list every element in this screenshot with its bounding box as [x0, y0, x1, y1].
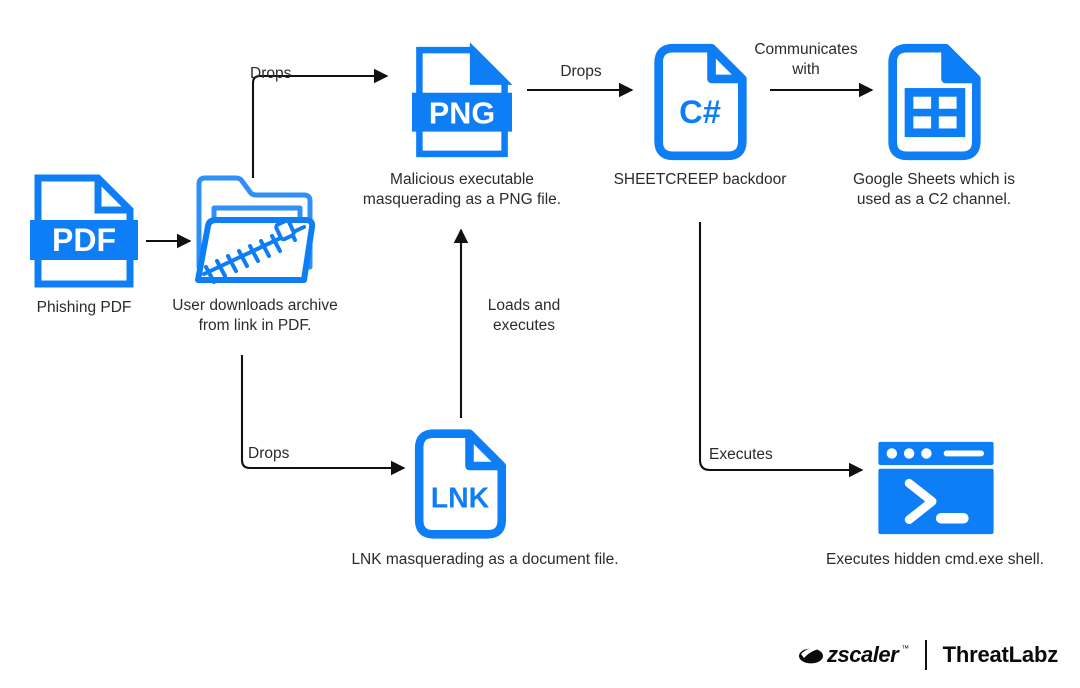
zscaler-logo: zscaler ™ [798, 642, 909, 668]
trademark-symbol: ™ [901, 644, 909, 653]
terminal-titlebar-line [944, 451, 984, 457]
edge-label-archive-to-png: Drops [250, 64, 334, 84]
edge-label-archive-to-lnk: Drops [248, 444, 332, 464]
google-sheets-file-icon [884, 42, 984, 162]
edge-label-lnk-to-png: Loads and executes [472, 296, 576, 336]
brand-divider [925, 640, 927, 670]
lnk-file-icon: LNK [410, 428, 510, 540]
terminal-dot [921, 448, 931, 458]
csharp-file-icon: C# [650, 42, 750, 162]
pdf-file-icon: PDF [30, 172, 138, 290]
diagram-canvas: PDF Phishing PDF [0, 0, 1080, 688]
pdf-badge-label: PDF [52, 222, 116, 258]
png-file-icon: PNG [412, 42, 512, 162]
terminal-cursor [936, 513, 969, 524]
terminal-dot [904, 448, 914, 458]
edge-archive-to-png [253, 76, 387, 178]
caption-sheets: Google Sheets which is used as a C2 chan… [824, 170, 1044, 211]
node-csharp[interactable]: C# [650, 42, 750, 167]
caption-lnk: LNK masquerading as a document file. [325, 550, 645, 570]
branding: zscaler ™ ThreatLabz [798, 640, 1058, 670]
node-png[interactable]: PNG [412, 42, 512, 167]
node-cmd[interactable] [876, 440, 996, 541]
caption-png: Malicious executable masquerading as a P… [353, 170, 571, 211]
csharp-badge-label: C# [679, 93, 721, 130]
terminal-window-icon [876, 440, 996, 536]
edge-label-csharp-to-cmd: Executes [709, 445, 799, 465]
node-pdf[interactable]: PDF [30, 172, 138, 295]
threatlabz-wordmark: ThreatLabz [943, 642, 1058, 668]
node-lnk[interactable]: LNK [410, 428, 510, 545]
png-badge-label: PNG [429, 96, 495, 130]
edge-label-png-to-csharp: Drops [547, 62, 615, 82]
caption-cmd: Executes hidden cmd.exe shell. [790, 550, 1080, 570]
lnk-badge-label: LNK [431, 483, 490, 515]
zscaler-wordmark: zscaler [827, 642, 898, 668]
caption-csharp: SHEETCREEP backdoor [588, 170, 812, 190]
edge-csharp-to-cmd [700, 222, 862, 470]
caption-pdf: Phishing PDF [0, 298, 168, 318]
caption-archive: User downloads archive from link in PDF. [155, 296, 355, 337]
node-sheets[interactable] [884, 42, 984, 167]
zscaler-mark-icon [798, 645, 824, 665]
terminal-dot [887, 448, 897, 458]
zipped-folder-icon [192, 172, 320, 288]
edge-label-csharp-to-sheets: Communicates with [742, 40, 870, 80]
node-archive[interactable] [192, 172, 320, 293]
